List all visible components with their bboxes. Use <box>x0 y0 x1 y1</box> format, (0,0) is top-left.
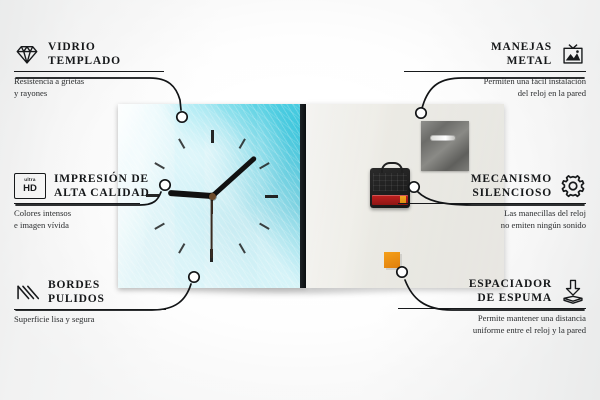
feature-manejas-metal: MANEJAS METAL Permiten una fácil instala… <box>404 40 586 100</box>
feature-title-line1: IMPRESIÓN DE <box>54 172 150 186</box>
feature-title-line1: MANEJAS <box>491 40 552 54</box>
feature-title-line1: ESPACIADOR <box>469 277 552 291</box>
feature-desc-line2: del reloj en la pared <box>404 88 586 100</box>
ultra-hd-icon: ultra HD <box>14 173 46 199</box>
feature-title-line2: SILENCIOSO <box>472 186 552 200</box>
feature-title-line1: MECANISMO <box>471 172 552 186</box>
ultra-hd-icon-main-label: HD <box>23 184 37 194</box>
feature-title-line2: METAL <box>507 54 552 68</box>
feature-desc-line1: Superficie lisa y segura <box>14 314 200 326</box>
feature-impresion-alta-calidad: ultra HD IMPRESIÓN DE ALTA CALIDAD Color… <box>14 172 200 232</box>
feature-desc-line2: e imagen vívida <box>14 220 200 232</box>
feature-rule <box>398 308 586 309</box>
feature-rule <box>14 71 164 72</box>
foam-spacer-arrow-icon <box>560 278 586 304</box>
feature-title-line2: DE ESPUMA <box>477 291 552 305</box>
feature-title-line2: TEMPLADO <box>48 54 121 68</box>
product-infographic: VIDRIO TEMPLADO Resistencia a grietas y … <box>0 0 600 400</box>
feature-title-line2: ALTA CALIDAD <box>54 186 150 200</box>
leader-dot-espaciador <box>397 267 407 277</box>
feature-desc-line1: Permite mantener una distancia <box>398 313 586 325</box>
feature-desc-line1: Colores intensos <box>14 208 200 220</box>
leader-dot-manejas <box>416 108 426 118</box>
feature-desc-line1: Las manecillas del reloj <box>398 208 586 220</box>
feature-desc-line1: Permiten una fácil instalación <box>404 76 586 88</box>
feature-vidrio-templado: VIDRIO TEMPLADO Resistencia a grietas y … <box>14 40 194 100</box>
picture-frame-icon <box>560 41 586 67</box>
feature-desc-line2: uniforme entre el reloj y la pared <box>398 325 586 337</box>
feature-espaciador-de-espuma: ESPACIADOR DE ESPUMA Permite mantener un… <box>398 277 586 337</box>
gear-icon <box>560 173 586 199</box>
feature-mecanismo-silencioso: MECANISMO SILENCIOSO Las manecillas del … <box>398 172 586 232</box>
leader-dot-vidrio <box>177 112 187 122</box>
feature-desc-line1: Resistencia a grietas <box>14 76 194 88</box>
feature-title-line1: VIDRIO <box>48 40 121 54</box>
feature-rule <box>14 309 166 310</box>
feature-desc-line2: no emiten ningún sonido <box>398 220 586 232</box>
feature-desc-line2: y rayones <box>14 88 194 100</box>
feature-rule <box>398 203 586 204</box>
feature-bordes-pulidos: BORDES PULIDOS Superficie lisa y segura <box>14 278 200 326</box>
feature-rule <box>14 203 140 204</box>
feature-title-line1: BORDES <box>48 278 105 292</box>
feature-rule <box>404 71 586 72</box>
polished-edges-icon <box>14 279 40 305</box>
feature-title-line2: PULIDOS <box>48 292 105 306</box>
diamond-icon <box>14 41 40 67</box>
